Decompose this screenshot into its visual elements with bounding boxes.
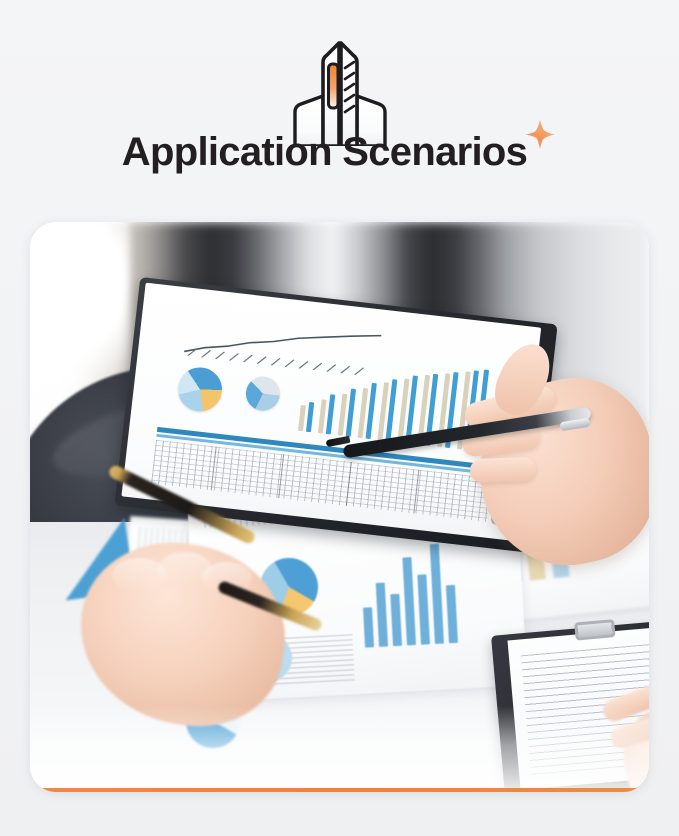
pointing-hand [460, 342, 649, 592]
photo-bottom-fade [30, 706, 649, 792]
application-scenarios-page: Application Scenarios [0, 0, 679, 836]
report-pie-chart-1 [176, 365, 225, 414]
window-glare [30, 222, 130, 392]
sparkle-icon [523, 118, 557, 152]
foreground-hand-knuckle [112, 558, 166, 592]
page-title: Application Scenarios [122, 132, 527, 172]
page-header: Application Scenarios [0, 0, 679, 210]
report-pie-chart-2 [244, 375, 282, 413]
foreground-hand [50, 492, 310, 742]
second-clipboard-clip [574, 619, 615, 640]
scenario-photo-card: Document [30, 222, 649, 792]
title-row: Application Scenarios [0, 132, 679, 172]
scenario-photo [30, 222, 649, 792]
pointing-hand-finger [470, 457, 537, 483]
